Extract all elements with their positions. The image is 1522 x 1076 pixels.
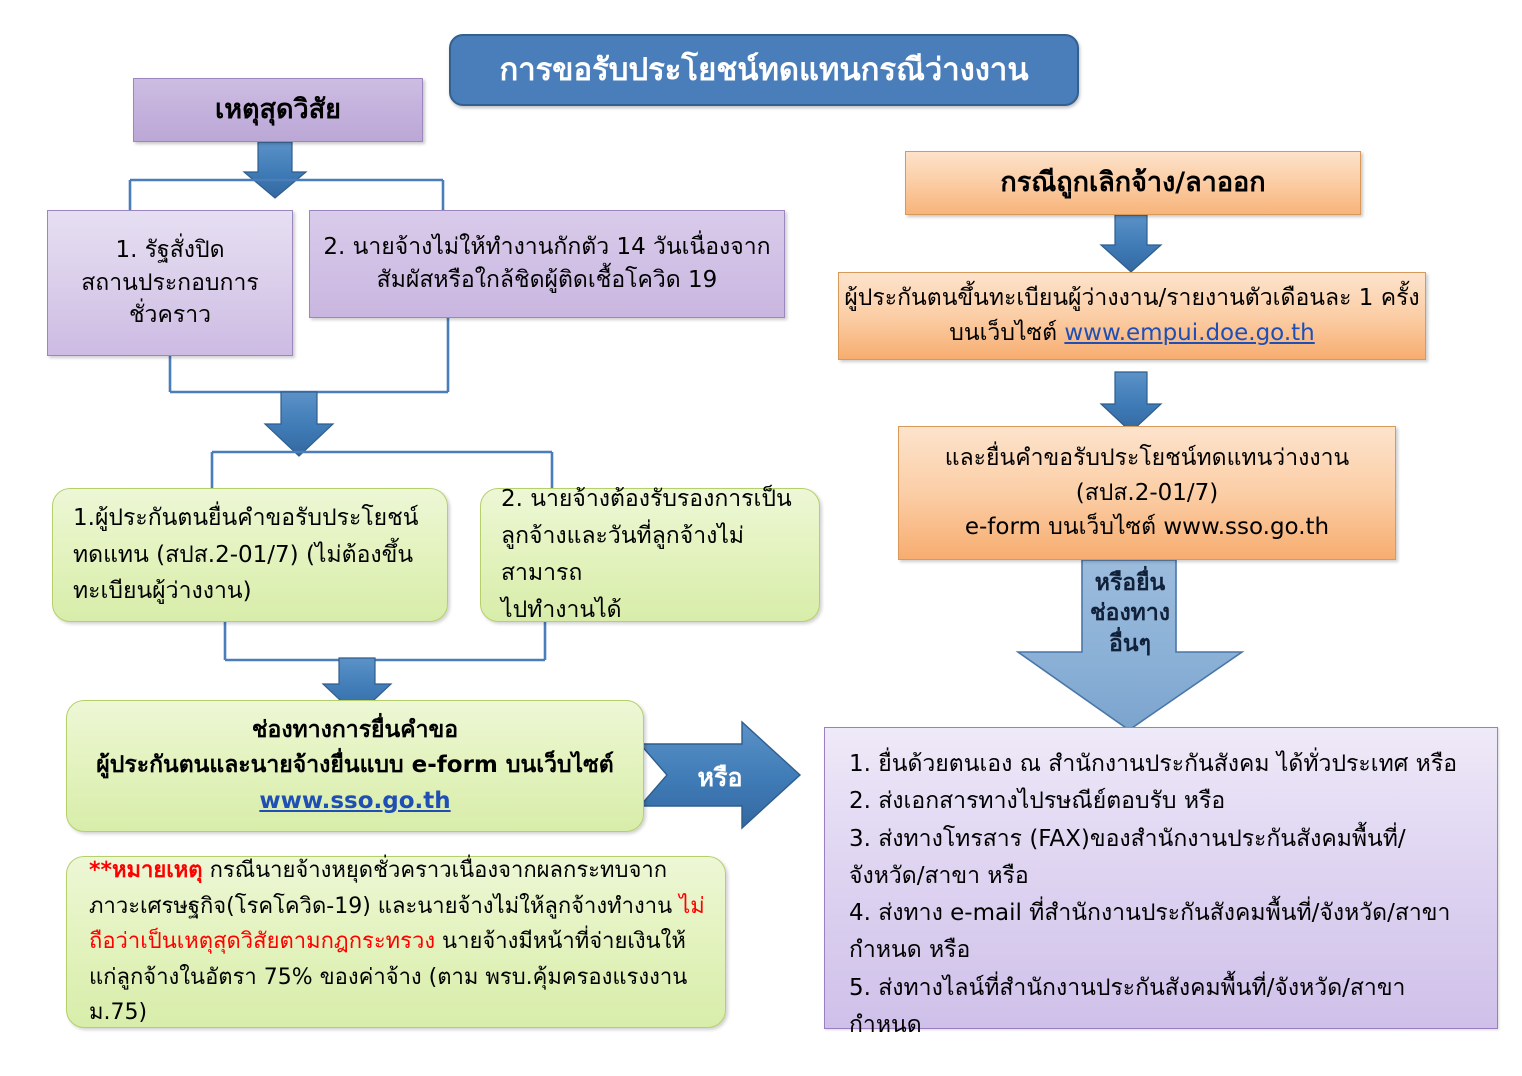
force-majeure-header-text: เหตุสุดวิสัย — [134, 91, 422, 129]
step-1-line-1: 1.ผู้ประกันตนยื่นคำขอรับประโยชน์ — [73, 500, 433, 537]
force-majeure-header: เหตุสุดวิสัย — [133, 78, 423, 142]
step-2-line-3: ไปทำงานได้ — [501, 592, 805, 629]
termination-header-text: กรณีถูกเลิกจ้าง/ลาออก — [906, 164, 1360, 202]
channel-list-item-4: 4. ส่งทาง e-mail ที่สำนักงานประกันสังคมพ… — [849, 895, 1477, 970]
other-channels-line-2: ช่องทาง — [1059, 598, 1201, 628]
arrow-down-from-termination — [1101, 215, 1161, 272]
channel-list-item-5: 5. ส่งทางไลน์ที่สำนักงานประกันสังคมพื้นท… — [849, 970, 1477, 1045]
step-2-line-2: ลูกจ้างและวันที่ลูกจ้างไม่สามารถ — [501, 518, 805, 592]
termination-header: กรณีถูกเลิกจ้าง/ลาออก — [905, 151, 1361, 215]
diagram-title: การขอรับประโยชน์ทดแทนกรณีว่างงาน — [449, 34, 1079, 106]
channel-line-1: ช่องทางการยื่นคำขอ — [83, 713, 627, 749]
channel-list-item-2: 2. ส่งเอกสารทางไปรษณีย์ตอบรับ หรือ — [849, 783, 1477, 820]
merge-bracket-steps — [225, 622, 545, 660]
cause-box-2: 2. นายจ้างไม่ให้ทำงานกักตัว 14 วันเนื่อง… — [309, 210, 785, 318]
cause-2-line-1: 2. นายจ้างไม่ให้ทำงานกักตัว 14 วันเนื่อง… — [310, 231, 784, 264]
cause-box-1: 1. รัฐสั่งปิด สถานประกอบการ ชั่วคราว — [47, 210, 293, 356]
other-channels-line-1: หรือยื่น — [1059, 568, 1201, 598]
empui-website-link[interactable]: www.empui.doe.go.th — [1064, 320, 1314, 346]
channel-line-2: ผู้ประกันตนและนายจ้างยื่นแบบ e-form บนเว… — [83, 748, 627, 784]
channel-list-item-1: 1. ยื่นด้วยตนเอง ณ สำนักงานประกันสังคม ไ… — [849, 746, 1477, 783]
note-box: **หมายเหตุ กรณีนายจ้างหยุดชั่วคราวเนื่อง… — [66, 856, 726, 1028]
claim-line-1: และยื่นคำขอรับประโยชน์ทดแทนว่างงาน — [899, 441, 1395, 476]
step-2-line-1: 2. นายจ้างต้องรับรองการเป็น — [501, 481, 805, 518]
arrow-right-or — [640, 722, 800, 828]
cause-2-line-2: สัมผัสหรือใกล้ชิดผู้ติดเชื้อโควิด 19 — [310, 264, 784, 297]
arrow-down-other-channels — [1018, 560, 1242, 730]
arrow-down-from-force-majeure — [244, 142, 306, 198]
flowchart-canvas: การขอรับประโยชน์ทดแทนกรณีว่างงาน เหตุสุด… — [0, 0, 1522, 1076]
register-line-1: ผู้ประกันตนขึ้นทะเบียนผู้ว่างงาน/รายงานต… — [839, 281, 1425, 316]
claim-box: และยื่นคำขอรับประโยชน์ทดแทนว่างงาน (สปส.… — [898, 426, 1396, 560]
register-line-2-prefix: บนเว็บไซต์ — [949, 320, 1064, 346]
step-1-line-3: ทะเบียนผู้ว่างงาน) — [73, 573, 433, 610]
claim-line-3: e-form บนเว็บไซต์ www.sso.go.th — [899, 510, 1395, 545]
split-bracket-causes — [130, 180, 443, 212]
step-box-1: 1.ผู้ประกันตนยื่นคำขอรับประโยชน์ ทดแทน (… — [52, 488, 448, 622]
step-1-line-2: ทดแทน (สปส.2-01/7) (ไม่ต้องขึ้น — [73, 537, 433, 574]
claim-line-2: (สปส.2-01/7) — [899, 476, 1395, 511]
or-arrow-label: หรือ — [660, 758, 780, 798]
diagram-title-text: การขอรับประโยชน์ทดแทนกรณีว่างงาน — [451, 48, 1077, 92]
note-label: **หมายเหตุ — [89, 858, 203, 883]
submission-channel-box: ช่องทางการยื่นคำขอ ผู้ประกันตนและนายจ้าง… — [66, 700, 644, 832]
cause-1-line-2: สถานประกอบการ — [48, 267, 292, 300]
other-channels-arrow-label: หรือยื่น ช่องทาง อื่นๆ — [1059, 568, 1201, 659]
step-box-2: 2. นายจ้างต้องรับรองการเป็น ลูกจ้างและวั… — [480, 488, 820, 622]
other-channels-list-box: 1. ยื่นด้วยตนเอง ณ สำนักงานประกันสังคม ไ… — [824, 727, 1498, 1029]
channel-list-item-3: 3. ส่งทางโทรสาร (FAX)ของสำนักงานประกันสั… — [849, 821, 1477, 896]
arrow-down-to-steps — [265, 392, 333, 456]
register-line-2: บนเว็บไซต์ www.empui.doe.go.th — [839, 316, 1425, 351]
register-box: ผู้ประกันตนขึ้นทะเบียนผู้ว่างงาน/รายงานต… — [838, 272, 1426, 360]
cause-1-line-3: ชั่วคราว — [48, 299, 292, 332]
other-channels-line-3: อื่นๆ — [1059, 629, 1201, 659]
arrow-down-register-to-claim — [1101, 372, 1161, 432]
cause-1-line-1: 1. รัฐสั่งปิด — [48, 234, 292, 267]
note-paragraph: **หมายเหตุ กรณีนายจ้างหยุดชั่วคราวเนื่อง… — [89, 853, 709, 1031]
sso-website-link[interactable]: www.sso.go.th — [83, 784, 627, 820]
